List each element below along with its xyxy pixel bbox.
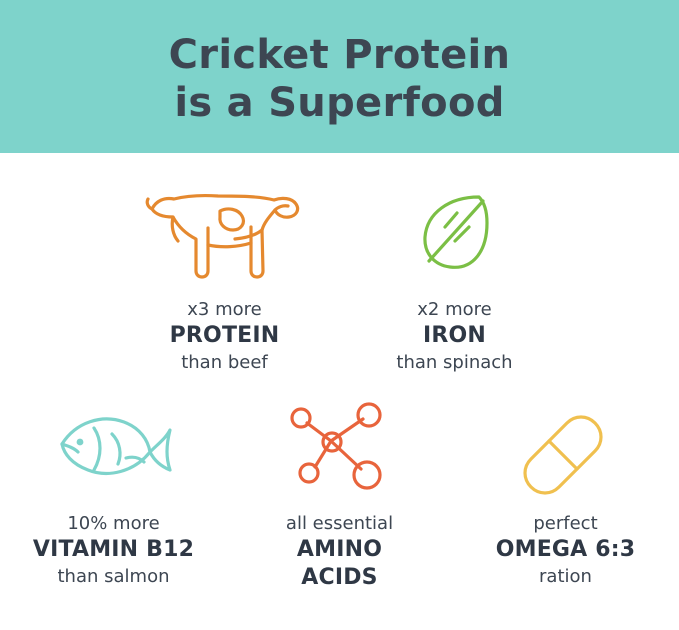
benefit-protein-top: x3 more bbox=[187, 297, 261, 322]
benefit-omega-labels: perfect OMEGA 6:3 ration bbox=[496, 511, 636, 589]
benefit-vitamin-b12-main: VITAMIN B12 bbox=[33, 536, 194, 564]
page-title-line-2: is a Superfood bbox=[174, 79, 504, 127]
benefit-vitamin-b12-labels: 10% more VITAMIN B12 than salmon bbox=[33, 511, 194, 589]
molecule-icon bbox=[285, 393, 395, 501]
benefit-protein: x3 more PROTEIN than beef bbox=[110, 179, 340, 375]
leaf-icon bbox=[405, 179, 505, 287]
benefit-protein-main: PROTEIN bbox=[170, 322, 280, 350]
benefit-omega-bottom: ration bbox=[539, 564, 592, 589]
benefits-row-1: x3 more PROTEIN than beef x2 more bbox=[0, 153, 679, 375]
page-title-line-1: Cricket Protein bbox=[169, 31, 511, 79]
benefit-omega-main: OMEGA 6:3 bbox=[496, 536, 636, 564]
benefits-row-2: 10% more VITAMIN B12 than salmon bbox=[0, 375, 679, 592]
benefit-amino-acids: all essential AMINO ACIDS bbox=[227, 393, 453, 592]
benefit-iron: x2 more IRON than spinach bbox=[340, 179, 570, 375]
benefit-omega: perfect OMEGA 6:3 ration bbox=[453, 393, 679, 592]
benefit-protein-bottom: than beef bbox=[181, 350, 268, 375]
benefit-vitamin-b12: 10% more VITAMIN B12 than salmon bbox=[1, 393, 227, 592]
benefit-iron-main: IRON bbox=[423, 322, 486, 350]
header-banner: Cricket Protein is a Superfood bbox=[0, 0, 679, 153]
fish-icon bbox=[54, 393, 174, 501]
benefit-amino-acids-main: AMINO ACIDS bbox=[297, 536, 382, 592]
benefit-amino-acids-main-line-2: ACIDS bbox=[301, 564, 377, 592]
benefit-omega-top: perfect bbox=[533, 511, 597, 536]
benefit-iron-bottom: than spinach bbox=[396, 350, 512, 375]
benefit-vitamin-b12-bottom: than salmon bbox=[58, 564, 170, 589]
cow-icon bbox=[142, 179, 307, 287]
benefit-vitamin-b12-top: 10% more bbox=[67, 511, 159, 536]
benefit-iron-top: x2 more bbox=[417, 297, 491, 322]
benefit-amino-acids-labels: all essential AMINO ACIDS bbox=[286, 511, 393, 592]
benefit-amino-acids-main-line-1: AMINO bbox=[297, 536, 382, 564]
benefit-amino-acids-top: all essential bbox=[286, 511, 393, 536]
infographic-root: Cricket Protein is a Superfood bbox=[0, 0, 679, 630]
benefit-protein-labels: x3 more PROTEIN than beef bbox=[170, 297, 280, 375]
capsule-icon bbox=[511, 393, 621, 501]
benefits-grid: x3 more PROTEIN than beef x2 more bbox=[0, 153, 679, 592]
benefit-iron-labels: x2 more IRON than spinach bbox=[396, 297, 512, 375]
